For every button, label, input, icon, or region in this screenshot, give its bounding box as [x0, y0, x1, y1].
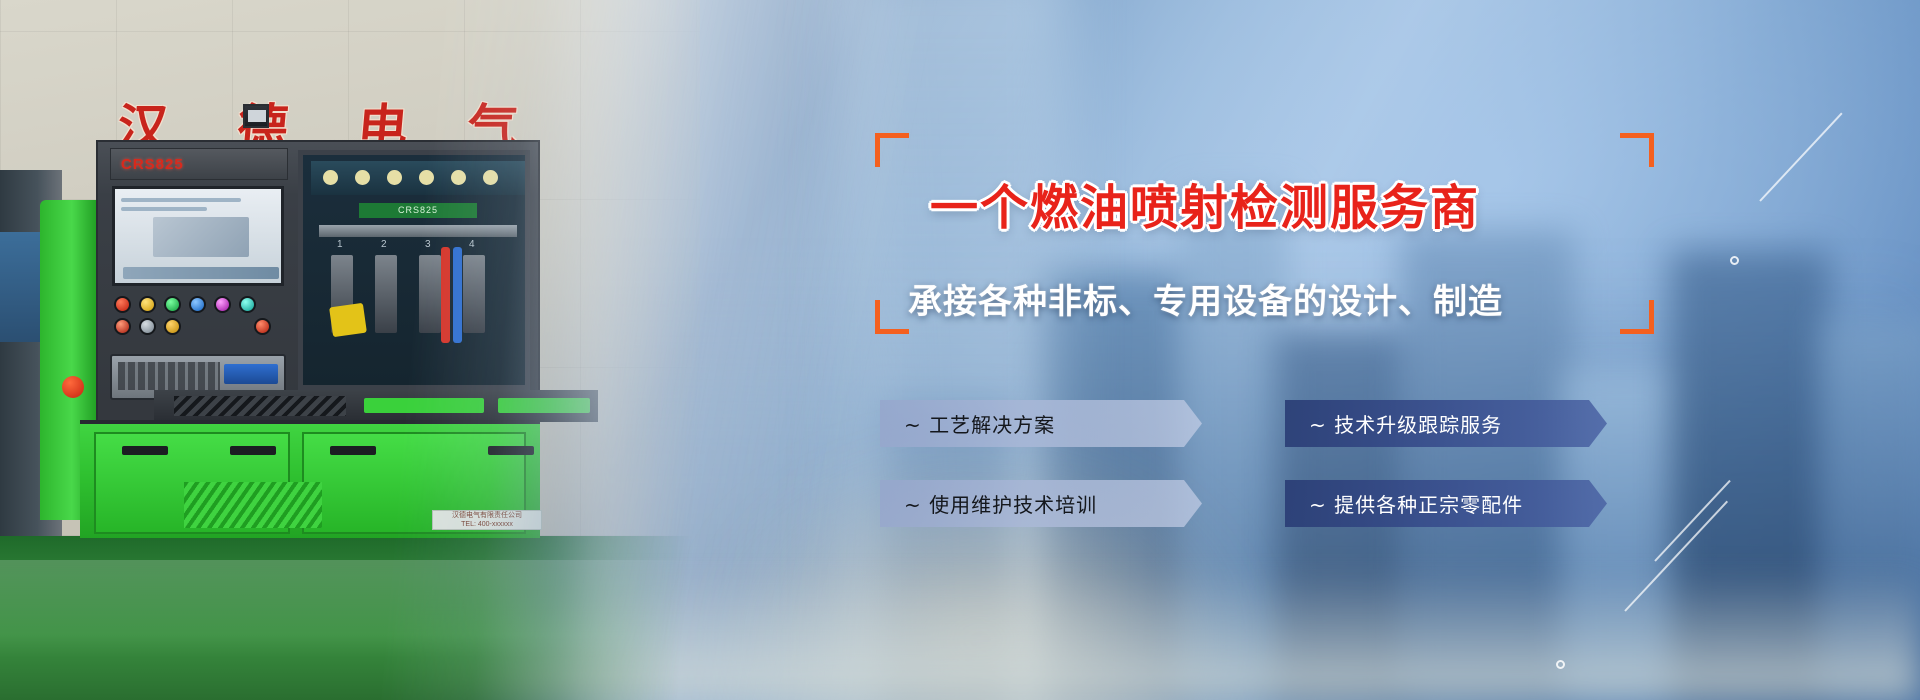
- corner-bracket-top-right: [1620, 133, 1654, 167]
- feature-tag-process-solution[interactable]: ~ 工艺解决方案: [880, 400, 1202, 447]
- product-photo: 汉 德 电 气 CRS825: [0, 0, 700, 700]
- machine-model-plate: CRS825: [110, 148, 288, 180]
- feature-tag-label: ~ 技术升级跟踪服务: [1309, 409, 1502, 438]
- banner-headline: 一个燃油喷射检测服务商: [930, 168, 1480, 238]
- common-rail: [319, 225, 517, 237]
- drawer-handle: [230, 446, 276, 455]
- machine-control-buttons: [114, 296, 282, 336]
- wall-lamp: [243, 104, 269, 128]
- decor-circle: [1556, 660, 1565, 669]
- yellow-fixture: [329, 303, 367, 337]
- decor-circle: [1730, 256, 1739, 265]
- machine-cabinet: CRS825: [96, 140, 540, 440]
- machine-model-label: CRS825: [121, 156, 184, 173]
- emergency-stop-button: [62, 376, 84, 398]
- nameplate-tel: TEL: 400-xxxxxx: [433, 520, 541, 529]
- deck-green-slot: [498, 398, 590, 413]
- feature-tag-label: ~ 提供各种正宗零配件: [1309, 489, 1523, 518]
- feature-tag-tech-upgrade-service[interactable]: ~ 技术升级跟踪服务: [1285, 400, 1607, 447]
- drawer-handle: [122, 446, 168, 455]
- drawer-handle: [488, 446, 534, 455]
- red-hose: [441, 247, 450, 343]
- machine-deck: [154, 390, 598, 422]
- machine-control-card: [224, 364, 278, 384]
- banner-subheadline: 承接各种非标、专用设备的设计、制造: [908, 274, 1503, 323]
- machine-test-chamber: CRS825 1 2 3 4: [298, 150, 530, 390]
- deck-green-slot: [364, 398, 484, 413]
- injector-unit: [419, 255, 441, 333]
- machine-nameplate: 汉德电气有限责任公司 TEL: 400-xxxxxx: [432, 510, 542, 530]
- machine-display-screen: [112, 186, 284, 286]
- corner-bracket-top-left: [875, 133, 909, 167]
- machine-base-cabinet: 汉德电气有限责任公司 TEL: 400-xxxxxx: [80, 420, 540, 538]
- injector-unit: [463, 255, 485, 333]
- deck-vent: [174, 396, 346, 416]
- base-vent: [184, 482, 322, 528]
- floor-reflection: [0, 560, 700, 700]
- hero-banner: 汉 德 电 气 CRS825: [0, 0, 1920, 700]
- feature-tag-label: ~ 工艺解决方案: [904, 409, 1055, 438]
- feature-tag-label: ~ 使用维护技术培训: [904, 489, 1097, 518]
- corner-bracket-bottom-right: [1620, 300, 1654, 334]
- feature-tag-maintenance-training[interactable]: ~ 使用维护技术培训: [880, 480, 1202, 527]
- nameplate-company: 汉德电气有限责任公司: [433, 511, 541, 520]
- chamber-model-label: CRS825: [359, 203, 477, 218]
- blue-hose: [453, 247, 462, 343]
- corner-bracket-bottom-left: [875, 300, 909, 334]
- test-bench-machine: CRS825: [40, 140, 540, 520]
- injector-unit: [375, 255, 397, 333]
- chamber-top-rail: [311, 161, 525, 195]
- photo-fade-mask: 汉 德 电 气 CRS825: [0, 0, 700, 700]
- drawer-handle: [330, 446, 376, 455]
- feature-tag-genuine-parts[interactable]: ~ 提供各种正宗零配件: [1285, 480, 1607, 527]
